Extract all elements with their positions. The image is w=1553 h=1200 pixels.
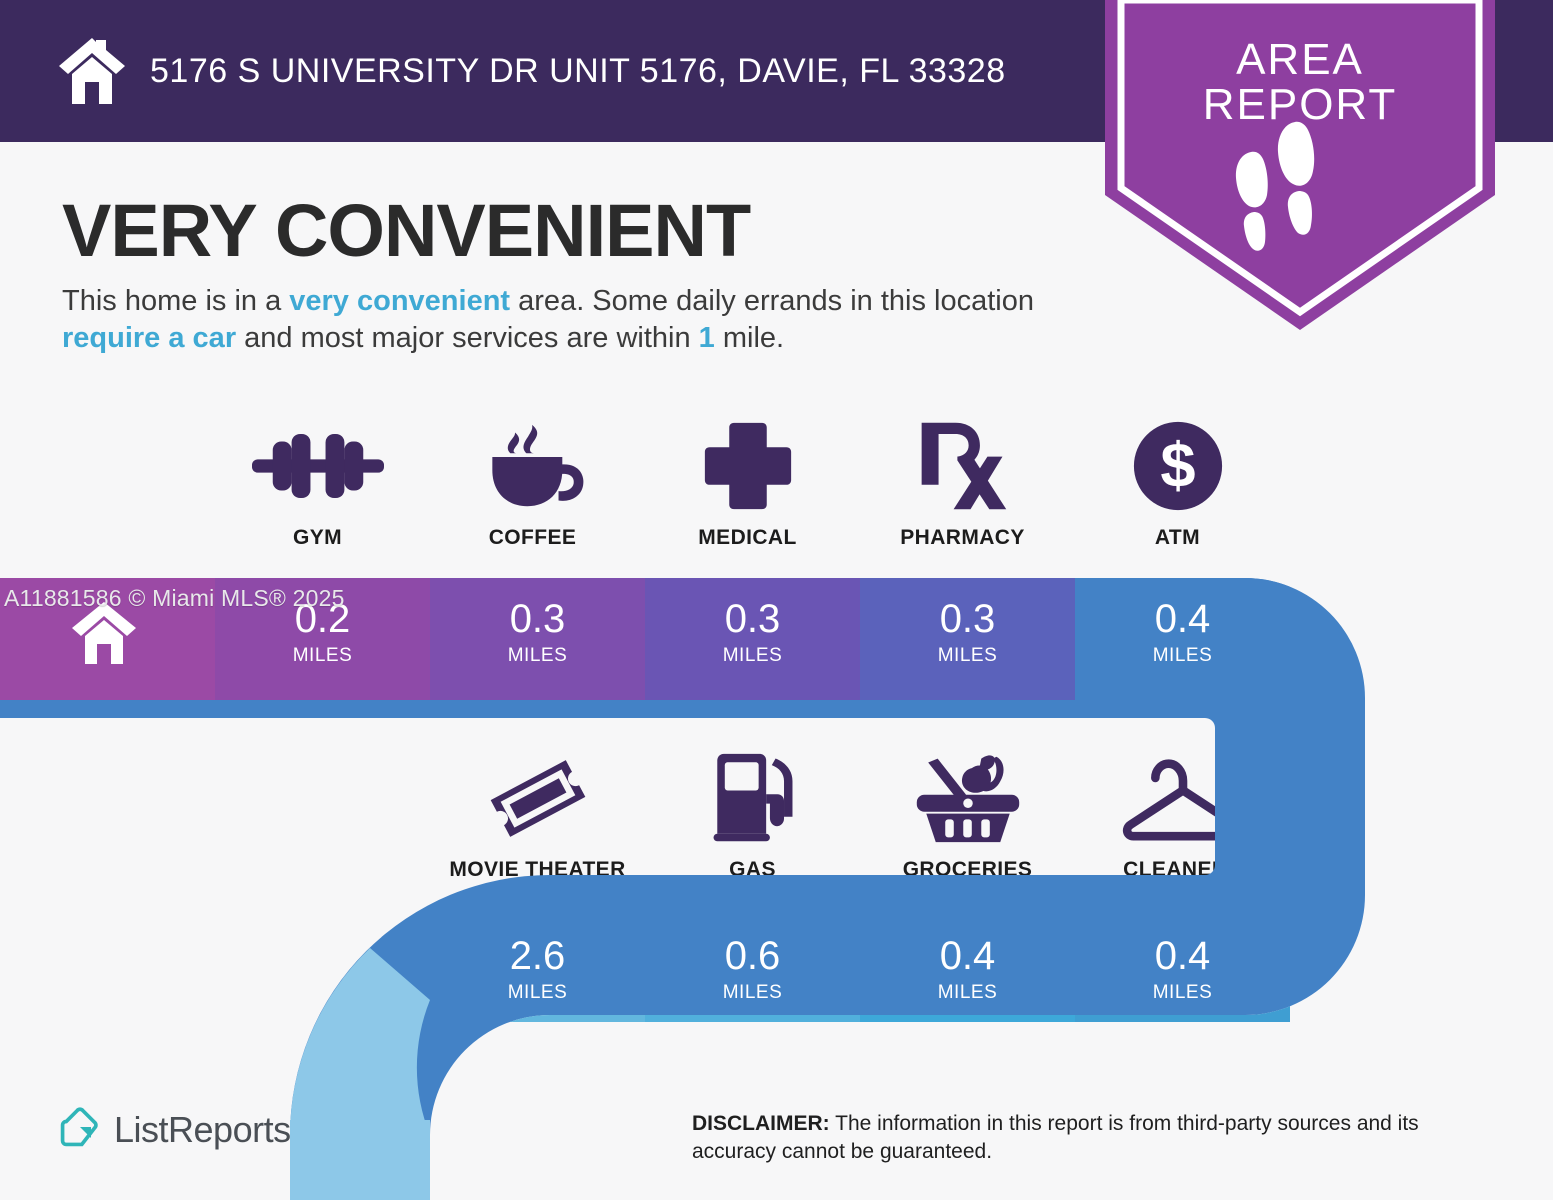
mls-watermark: A11881586 © Miami MLS® 2025 (4, 585, 345, 612)
distance-value: 0.4 (1155, 936, 1211, 976)
disclaimer-label: DISCLAIMER: (692, 1112, 830, 1135)
distance-unit: MILES (723, 982, 783, 1004)
distance-unit: MILES (508, 645, 568, 667)
disclaimer: DISCLAIMER: The information in this repo… (692, 1110, 1502, 1165)
area-report-badge: AREA REPORT (1105, 0, 1495, 330)
distance-unit: MILES (1153, 645, 1213, 667)
distance-unit: MILES (723, 645, 783, 667)
summary-part-2: area. Some daily errands in this locatio… (510, 285, 1034, 317)
distance-pharmacy: 0.3 MILES (860, 578, 1075, 688)
distance-value: 0.6 (725, 936, 781, 976)
amenity-coffee: COFFEE (425, 418, 640, 550)
distance-unit: MILES (938, 645, 998, 667)
amenity-pharmacy: PHARMACY (855, 418, 1070, 550)
property-address: 5176 S UNIVERSITY DR UNIT 5176, DAVIE, F… (150, 52, 1006, 91)
amenity-label: GYM (293, 526, 342, 550)
distance-value: 2.6 (510, 936, 566, 976)
distance-gas: 0.6 MILES (645, 915, 860, 1025)
distance-value: 0.3 (725, 599, 781, 639)
distance-value: 0.3 (510, 599, 566, 639)
distance-value: 0.4 (940, 936, 996, 976)
amenity-icon-row-1: GYM COFFEE MEDICAL (0, 418, 1553, 550)
page-title: VERY CONVENIENT (62, 188, 750, 273)
rx-icon (916, 418, 1010, 514)
amenity-label: PHARMACY (900, 526, 1025, 550)
distance-unit: MILES (508, 982, 568, 1004)
distance-medical: 0.3 MILES (645, 578, 860, 688)
listreports-logo[interactable]: ListReports (58, 1105, 291, 1154)
amenity-atm: $ ATM (1070, 418, 1285, 550)
medical-cross-icon (703, 418, 793, 514)
coffee-cup-icon (481, 418, 585, 514)
svg-text:$: $ (1160, 431, 1195, 501)
dumbbell-icon (252, 418, 384, 514)
distance-unit: MILES (293, 645, 353, 667)
summary-highlight-1: very convenient (289, 285, 510, 317)
distance-cleaners: 0.4 MILES (1075, 915, 1290, 1025)
amenity-medical: MEDICAL (640, 418, 855, 550)
distance-coffee: 0.3 MILES (430, 578, 645, 688)
dollar-circle-icon: $ (1132, 418, 1224, 514)
amenity-label: ATM (1155, 526, 1200, 550)
summary-highlight-2: require a car (62, 322, 236, 354)
summary-part-4: mile. (715, 322, 784, 354)
summary-part-3: and most major services are within (236, 322, 699, 354)
amenity-gym: GYM (210, 418, 425, 550)
amenity-label: MEDICAL (698, 526, 796, 550)
distance-value: 0.3 (940, 599, 996, 639)
listreports-wordmark: ListReports (114, 1109, 291, 1151)
amenity-label: COFFEE (489, 526, 577, 550)
summary-part-1: This home is in a (62, 285, 289, 317)
distance-unit: MILES (938, 982, 998, 1004)
summary-highlight-3: 1 (699, 322, 715, 354)
listreports-house-tag-icon (58, 1105, 102, 1154)
summary-text: This home is in a very convenient area. … (62, 283, 1102, 357)
home-icon (55, 36, 129, 106)
distance-unit: MILES (1153, 982, 1213, 1004)
distance-groceries: 0.4 MILES (860, 915, 1075, 1025)
distance-movie-theater: 2.6 MILES (430, 915, 645, 1025)
distance-atm: 0.4 MILES (1075, 578, 1290, 688)
distance-values-row-2: 2.6 MILES 0.6 MILES 0.4 MILES 0.4 MILES (0, 915, 1553, 1025)
distance-value: 0.4 (1155, 599, 1211, 639)
